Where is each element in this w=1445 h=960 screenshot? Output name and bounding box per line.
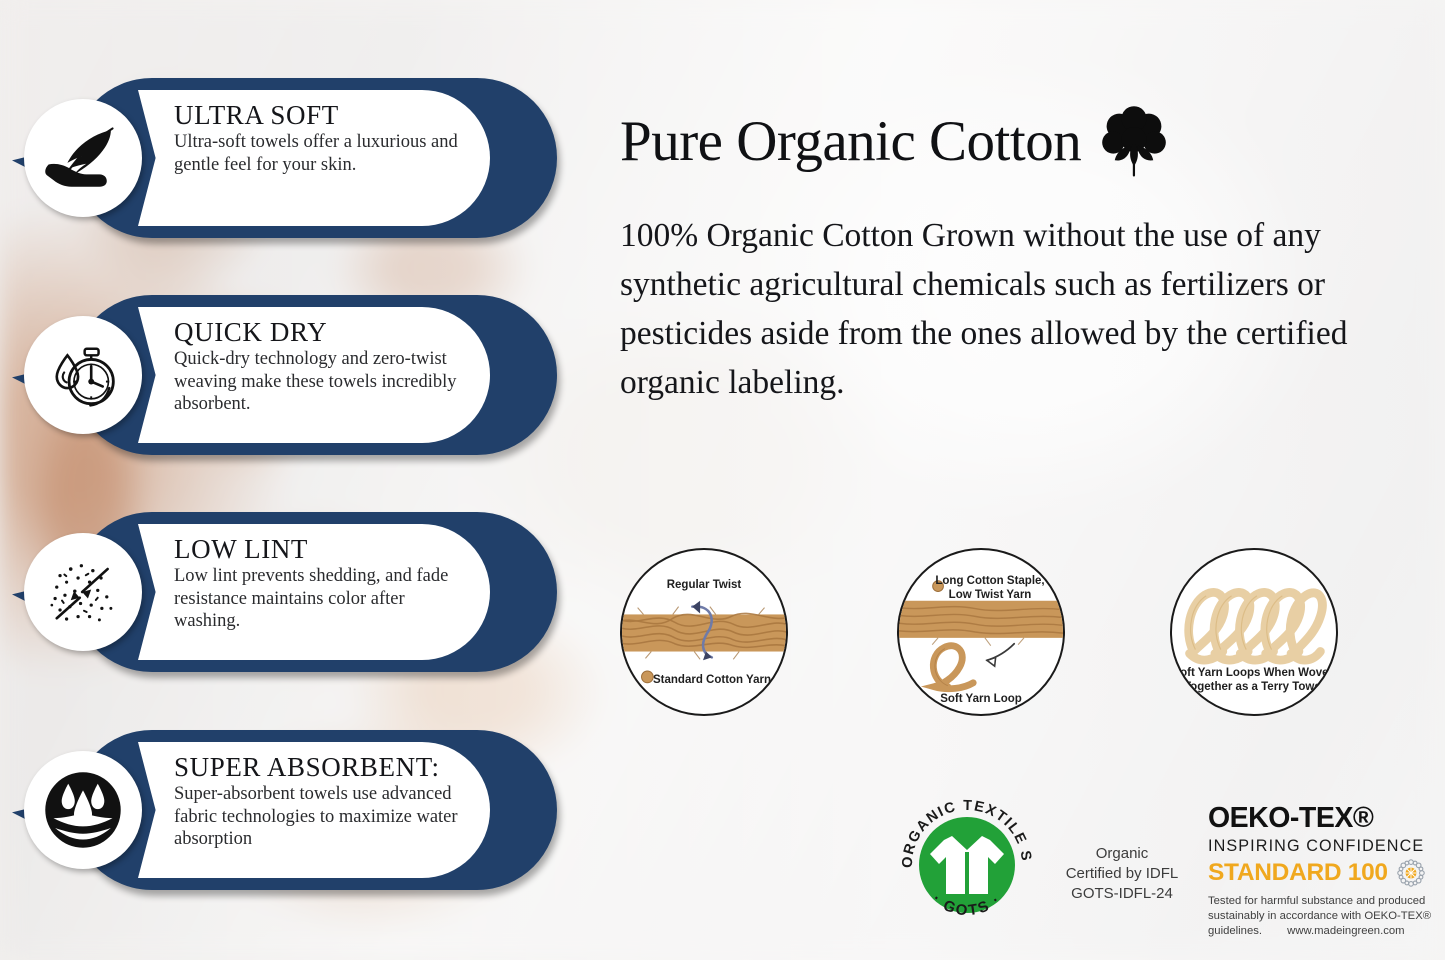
oeko-title: OEKO-TEX® [1208,804,1440,833]
oeko-subtitle: INSPIRING CONFIDENCE [1208,836,1440,857]
feature-title: SUPER ABSORBENT: [174,753,468,781]
oeko-standard-row: STANDARD 100 [1208,858,1440,888]
headline-row: Pure Organic Cotton [620,104,1171,178]
oeko-tex-badge: OEKO-TEX® INSPIRING CONFIDENCE STANDARD … [1208,804,1440,939]
yarn-bottom-label: Standard Cotton Yarn [622,673,786,687]
gots-seal-icon: GLOBAL ORGANIC TEXTILE STANDARD · GOTS · [892,790,1042,940]
feature-title: LOW LINT [174,535,468,563]
card-text-panel: QUICK DRY Quick-dry technology and zero-… [138,307,490,443]
body-paragraph: 100% Organic Cotton Grown without the us… [620,212,1420,408]
gots-caption: Organic Certified by IDFL GOTS-IDFL-24 [1052,844,1192,903]
yarn-bottom-label: Soft Yarn Loop [899,692,1063,706]
yarn-diagram-regular-twist: Regular Twist Standard Cotton Yarn [620,548,788,716]
yarn-diagram-terry-loops: Soft Yarn Loops When Woven Together as a… [1170,548,1338,716]
infographic-page: ULTRA SOFT Ultra-soft towels offer a lux… [0,0,1445,960]
feature-card-super-absorbent[interactable]: SUPER ABSORBENT: Super-absorbent towels … [12,730,557,890]
oeko-standard-label: STANDARD 100 [1208,861,1388,886]
lint-particles-arrows-icon [24,533,142,651]
card-text-panel: SUPER ABSORBENT: Super-absorbent towels … [138,742,490,878]
yarn-bottom-label: Soft Yarn Loops When Woven Together as a… [1172,666,1336,694]
yarn-top-label: Long Cotton Staple, Low Twist Yarn [899,574,1063,602]
gots-caption-line2: Certified by IDFL [1052,864,1192,884]
yarn-top-label: Regular Twist [622,578,786,592]
oeko-flower-icon [1396,858,1426,888]
oeko-fine-print: Tested for harmful substance and produce… [1208,894,1436,939]
feature-title: ULTRA SOFT [174,101,468,129]
yarn-diagram-group: Regular Twist Standard Cotton Yarn [612,548,1432,723]
feature-card-ultra-soft[interactable]: ULTRA SOFT Ultra-soft towels offer a lux… [12,78,557,238]
certification-row: GLOBAL ORGANIC TEXTILE STANDARD · GOTS ·… [600,782,1445,960]
water-drops-fabric-icon [24,751,142,869]
yarn-diagram-low-twist: Long Cotton Staple, Low Twist Yarn Soft … [897,548,1065,716]
feature-card-quick-dry[interactable]: QUICK DRY Quick-dry technology and zero-… [12,295,557,455]
feature-description: Ultra-soft towels offer a luxurious and … [174,131,468,176]
gots-caption-line1: Organic [1052,844,1192,864]
card-text-panel: ULTRA SOFT Ultra-soft towels offer a lux… [138,90,490,226]
gots-caption-line3: GOTS-IDFL-24 [1052,884,1192,904]
stopwatch-water-drop-icon [24,316,142,434]
feature-description: Quick-dry technology and zero-twist weav… [174,348,468,416]
feature-description: Low lint prevents shedding, and fade res… [174,565,468,633]
right-column: Pure Organic Cotton 100% Organic Cotton [600,0,1445,960]
feature-description: Super-absorbent towels use advanced fabr… [174,783,468,851]
feature-title: QUICK DRY [174,318,468,346]
feature-list: ULTRA SOFT Ultra-soft towels offer a lux… [0,0,585,960]
card-text-panel: LOW LINT Low lint prevents shedding, and… [138,524,490,660]
oeko-website: www.madeingreen.com [1287,925,1404,937]
feature-card-low-lint[interactable]: LOW LINT Low lint prevents shedding, and… [12,512,557,672]
cotton-boll-icon [1097,104,1171,178]
feather-in-hand-icon [24,99,142,217]
page-title: Pure Organic Cotton [620,109,1081,174]
